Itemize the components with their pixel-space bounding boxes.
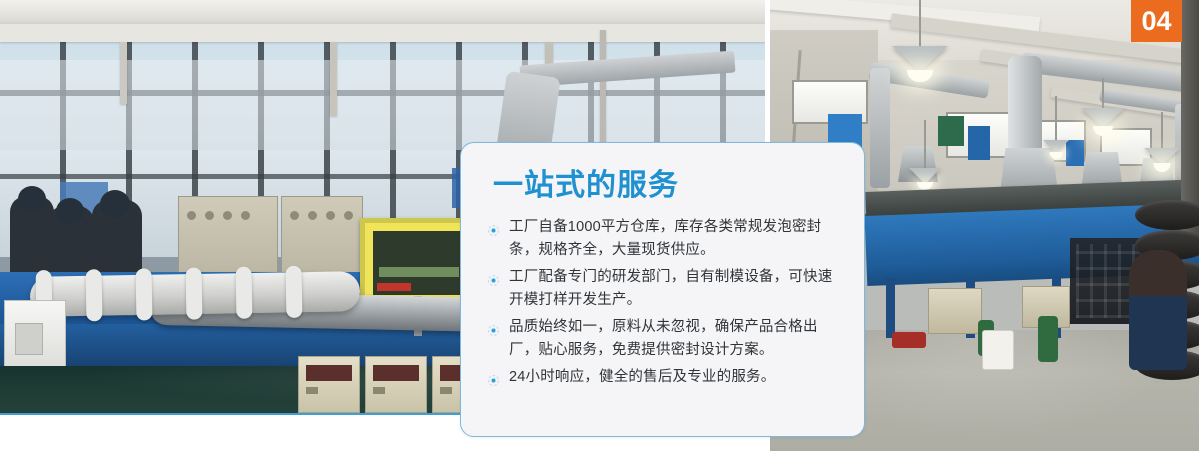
promo-banner: 04 一站式的服务 工厂自备1000平方仓库，库存各类常规发泡密封条，规格齐全，… xyxy=(0,0,1199,451)
worker-silhouette xyxy=(1129,250,1187,370)
lamp-cord xyxy=(1102,78,1104,108)
step-number-badge: 04 xyxy=(1131,0,1182,42)
page-title: 一站式的服务 xyxy=(493,169,838,202)
worker-head xyxy=(18,186,46,212)
panel-indicator xyxy=(377,283,411,291)
list-item-text: 24小时响应，健全的售后及专业的服务。 xyxy=(509,369,775,385)
list-item-text: 品质始终如一，原料从未忽视，确保产品合格出厂，贴心服务，免费提供密封设计方案。 xyxy=(509,319,818,358)
target-dot-icon xyxy=(487,372,500,385)
roof-beam xyxy=(0,24,765,42)
list-item: 品质始终如一，原料从未忽视，确保产品合格出厂，贴心服务，免费提供密封设计方案。 xyxy=(487,316,838,363)
list-item: 24小时响应，健全的售后及专业的服务。 xyxy=(487,366,838,389)
white-tank xyxy=(982,330,1014,370)
target-dot-icon xyxy=(487,222,500,235)
lamp-shade xyxy=(892,46,948,72)
worker-head xyxy=(56,198,84,224)
target-dot-icon xyxy=(487,322,500,335)
lamp-cord xyxy=(924,120,926,168)
green-door xyxy=(938,116,964,146)
controller-unit xyxy=(365,356,427,413)
list-item-text: 工厂配备专门的研发部门，自有制模设备，可快速开模打样开发生产。 xyxy=(509,269,832,308)
target-dot-icon xyxy=(487,272,500,285)
cabinet-knobs xyxy=(187,211,250,220)
roof-column xyxy=(120,42,127,104)
red-stool xyxy=(892,332,926,348)
controller-unit xyxy=(298,356,360,413)
lamp-shade xyxy=(1081,108,1125,128)
green-motor xyxy=(1038,316,1058,362)
list-item-text: 工厂自备1000平方仓库，库存各类常规发泡密封条，规格齐全，大量现货供应。 xyxy=(509,219,821,258)
cabinet-knobs xyxy=(290,211,353,220)
equipment-box xyxy=(928,288,982,334)
list-item: 工厂自备1000平方仓库，库存各类常规发泡密封条，规格齐全，大量现货供应。 xyxy=(487,216,838,263)
service-feature-list: 工厂自备1000平方仓库，库存各类常规发泡密封条，规格齐全，大量现货供应。 工厂… xyxy=(487,216,838,389)
lamp-cord xyxy=(1055,96,1057,140)
lamp-cord xyxy=(1161,112,1163,148)
roof-column xyxy=(330,42,337,116)
list-item: 工厂配备专门的研发部门，自有制模设备，可快速开模打样开发生产。 xyxy=(487,266,838,313)
hopper-slot xyxy=(15,323,43,355)
air-duct xyxy=(870,68,890,188)
worker-head xyxy=(100,190,130,218)
lamp-cord xyxy=(919,0,921,46)
blue-door xyxy=(968,126,990,160)
barrel-rings xyxy=(36,266,303,323)
service-info-card: 一站式的服务 工厂自备1000平方仓库，库存各类常规发泡密封条，规格齐全，大量现… xyxy=(460,142,865,437)
